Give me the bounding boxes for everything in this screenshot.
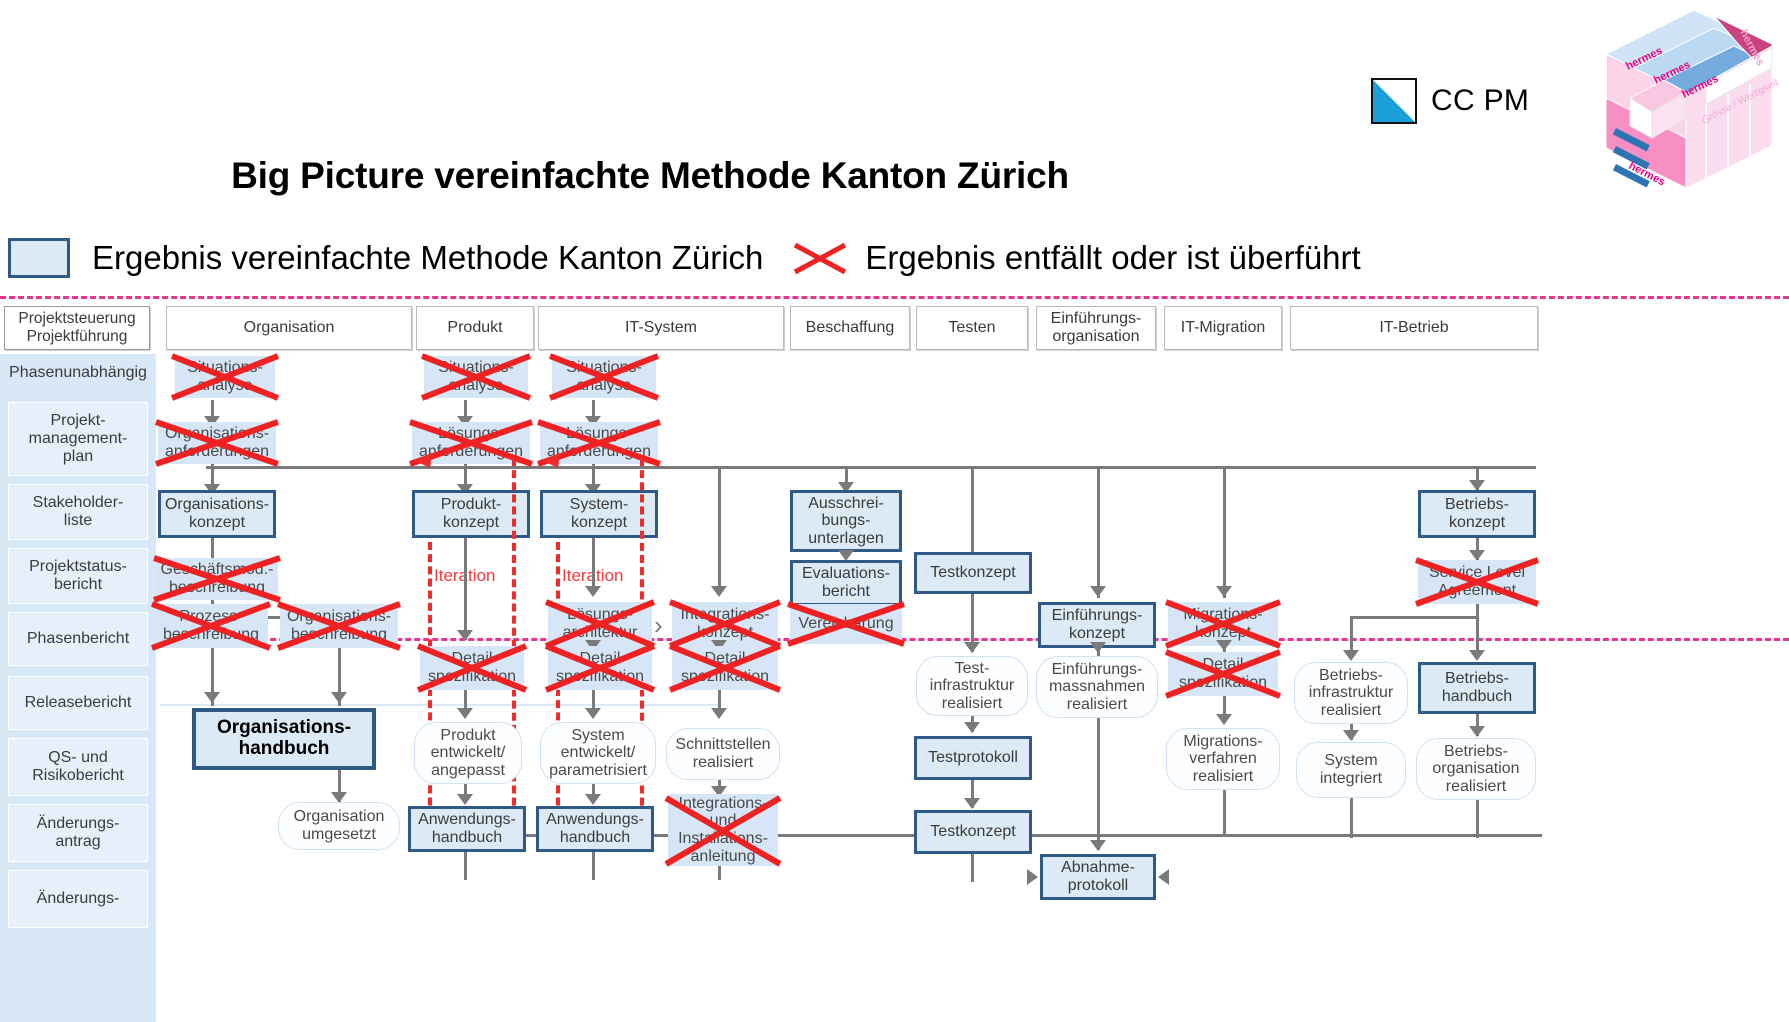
node-sys-situationsanalyse[interactable]: Situations-analyse [552,356,656,398]
connector [1350,798,1353,838]
column-header-produkt: Produkt [416,306,534,350]
arrow-icon [1469,726,1485,737]
arrow-icon [1343,650,1359,661]
node-int-schnittstellen[interactable]: Schnittstellenrealisiert [666,728,780,780]
arrow-left-icon [1158,869,1169,885]
arrow-icon [1090,642,1106,653]
sidebar-item-releasebericht[interactable]: Releasebericht [8,676,148,730]
connector [1097,718,1100,850]
node-test-konzept-top[interactable]: Testkonzept [914,552,1032,594]
connector [464,538,467,640]
node-besch-unterlagen[interactable]: Ausschrei-bungs-unterlagen [790,490,902,552]
arrow-icon [711,586,727,597]
node-einf-massnahmen[interactable]: Einführungs-massnahmenrealisiert [1036,656,1158,718]
phase-divider-top [0,296,1789,299]
arrow-icon [1090,840,1106,851]
node-mig-verfahren[interactable]: Migrations-verfahrenrealisiert [1166,728,1280,790]
node-besch-evaluationsbericht[interactable]: Evaluations-bericht [790,560,902,606]
node-betr-infrastruktur[interactable]: Betriebs-infrastrukturrealisiert [1294,662,1408,724]
node-sys-anwendungshandbuch[interactable]: Anwendungs-handbuch [536,806,654,852]
arrow-icon [1216,586,1232,597]
cc-pm-label: CC PM [1431,84,1529,118]
arrow-icon [204,692,220,703]
arrow-icon [1469,650,1485,661]
node-betr-handbuch[interactable]: Betriebs-handbuch [1418,662,1536,714]
red-cross-icon [791,239,849,277]
sidebar-band-label: Phasenunabhängig [0,356,156,390]
node-mig-detailspezifikation[interactable]: Detailspezifikation [1168,652,1278,696]
node-org-umgesetzt[interactable]: Organisationumgesetzt [278,802,400,850]
node-int-detailspezifikation[interactable]: Detailspezifikation [672,646,778,690]
slide-canvas: CC PM hermes hermes hermes hermes hermes… [0,0,1789,1022]
node-prod-entwickelt[interactable]: Produktentwickelt/angepasst [414,722,522,784]
connector [1476,800,1479,838]
sidebar-item-projektmanagementplan[interactable]: Projekt-management-plan [8,402,148,476]
arrow-icon [585,708,601,719]
column-header-it-system: IT-System [538,306,784,350]
node-einf-abnahmeprotokoll[interactable]: Abnahme-protokoll [1040,854,1156,900]
connector [1097,468,1100,598]
node-prod-anwendungshandbuch[interactable]: Anwendungs-handbuch [408,806,526,852]
connector-horizontal-concept [206,466,1536,469]
node-test-konzept-bottom[interactable]: Testkonzept [914,810,1032,854]
cc-pm-badge: CC PM [1371,78,1529,124]
node-org-handbuch[interactable]: Organisations-handbuch [192,708,376,770]
legend: Ergebnis vereinfachte Methode Kanton Zür… [8,232,1568,284]
arrow-icon [964,798,980,809]
arrow-icon [331,692,347,703]
arrow-icon [1090,586,1106,597]
node-betr-organisation[interactable]: Betriebs-organisationrealisiert [1416,738,1536,800]
legend-kept-label: Ergebnis vereinfachte Methode Kanton Zür… [92,239,763,277]
node-sys-detailspezifikation[interactable]: Detailspezifikation [548,646,652,690]
node-prod-detailspezifikation[interactable]: Detailspezifikation [420,646,524,690]
arrow-icon [964,642,980,653]
node-prod-situationsanalyse[interactable]: Situations-analyse [424,356,528,398]
arrow-icon [964,722,980,733]
connector [718,468,721,594]
connector [1223,790,1226,836]
node-org-situationsanalyse[interactable]: Situations-analyse [175,356,275,398]
sidebar-item-phasenbericht[interactable]: Phasenbericht [8,612,148,666]
node-org-organisationsbeschreibung[interactable]: Organisations-beschreibung [280,604,398,648]
divider-rule [160,704,720,706]
cc-pm-square-icon [1371,78,1417,124]
column-header-einfuehrungsorganisation: Einführungs-organisation [1036,306,1156,350]
connector [464,852,467,880]
big-picture-diagram: ProjektsteuerungProjektführung Organisat… [0,294,1789,1022]
connector [971,854,974,882]
node-besch-vereinbarung[interactable]: Vereinbarung [790,604,902,644]
node-betr-sla[interactable]: Service LevelAgreement [1418,560,1536,604]
node-test-infrastruktur[interactable]: Test-infrastrukturrealisiert [916,656,1028,716]
column-header-it-betrieb: IT-Betrieb [1290,306,1538,350]
node-betr-system-integriert[interactable]: Systemintegriert [1296,742,1406,798]
iteration-line-left-produkt [428,542,432,842]
node-org-anforderungen[interactable]: Organisations-anforderungen [158,422,276,464]
arrow-icon [585,794,601,805]
node-betr-konzept[interactable]: Betriebs-konzept [1418,490,1536,538]
connector [1350,616,1478,619]
arrow-icon [711,708,727,719]
node-org-gm-beschreibung[interactable]: Geschäftsmod.-beschreibung [156,558,278,600]
arrow-icon [585,586,601,597]
node-test-protokoll[interactable]: Testprotokoll [914,736,1032,780]
legend-removed-label: Ergebnis entfällt oder ist überführt [865,239,1360,277]
arrow-icon [457,708,473,719]
arrow-right-icon [1027,869,1038,885]
column-header-it-migration: IT-Migration [1164,306,1282,350]
connector [718,866,721,880]
page-title: Big Picture vereinfachte Methode Kanton … [0,155,1300,197]
arrow-icon [1343,730,1359,741]
column-header-beschaffung: Beschaffung [790,306,910,350]
connector [1223,468,1226,598]
hermes-cube-logo: hermes hermes hermes hermes hermes Gröss… [1594,6,1780,192]
arrow-icon [1216,640,1232,651]
column-header-testen: Testen [916,306,1028,350]
connector [211,538,214,558]
arrow-icon [1216,714,1232,725]
sidebar-item-aenderungsantrag[interactable]: Änderungs-antrag [8,804,148,862]
node-org-konzept[interactable]: Organisations-konzept [158,490,276,538]
sidebar-item-qs-risikobericht[interactable]: QS- undRisikobericht [8,738,148,796]
arrow-icon [457,794,473,805]
blue-box-icon [8,238,70,278]
column-header-organisation: Organisation [166,306,412,350]
sidebar-item-stakeholderliste[interactable]: Stakeholder-liste [8,484,148,540]
sidebar-item-aenderungs[interactable]: Änderungs- [8,870,148,928]
node-int-anleitung[interactable]: Integrations-undInstallations-anleitung [668,794,778,866]
node-sys-entwickelt[interactable]: Systementwickelt/parametrisiert [540,722,656,784]
connector [592,852,595,880]
arrow-icon [457,630,473,641]
column-header-projektsteuerung: ProjektsteuerungProjektführung [4,306,150,350]
iteration-line-left-system [556,542,560,842]
node-org-prozessbeschreibung[interactable]: Prozess-beschreibung [154,604,268,648]
chevron-right-icon: › [654,612,663,638]
sidebar-item-projektstatusbericht[interactable]: Projektstatus-bericht [8,548,148,604]
